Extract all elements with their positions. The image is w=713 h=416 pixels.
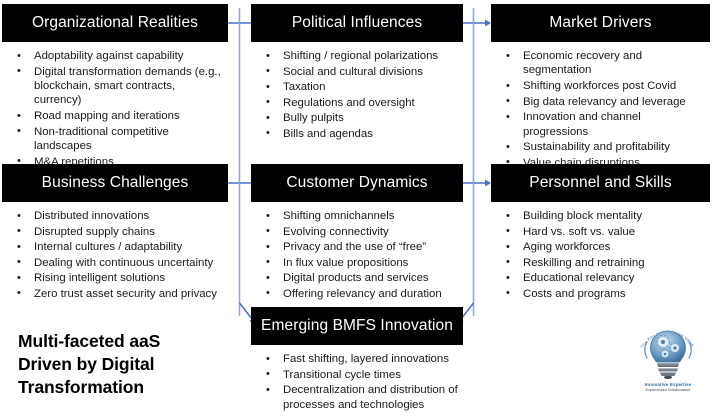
- panel-organizational-realities: Organizational Realities Adoptability ag…: [2, 4, 228, 172]
- list-item: Social and cultural divisions: [261, 65, 459, 79]
- list-item: Shifting omnichannels: [261, 209, 459, 223]
- list-item: In flux value propositions: [261, 256, 459, 270]
- page-title-line-3: Transformation: [18, 376, 233, 399]
- list-item: Transitional cycle times: [261, 368, 459, 382]
- list-item: Shifting / regional polarizations: [261, 49, 459, 63]
- list-item: Regulations and oversight: [261, 96, 459, 110]
- bullet-list-market-drivers: Economic recovery and segmentation Shift…: [501, 49, 706, 170]
- panel-political-influences: Political Influences Shifting / regional…: [251, 4, 463, 145]
- lightbulb-gears-icon: The Key to Unlocking Value: [627, 322, 709, 382]
- list-item: Economic recovery and segmentation: [501, 49, 706, 78]
- panel-header-business-challenges: Business Challenges: [2, 164, 228, 202]
- list-item: Sustainability and profitability: [501, 140, 706, 154]
- list-item: Decentralization and distribution of pro…: [261, 383, 459, 412]
- list-item: Digital transformation demands (e.g., bl…: [12, 65, 224, 108]
- list-item: Zero trust asset security and privacy: [12, 287, 224, 301]
- logo-tagline-primary: Innovative Expertise: [627, 382, 709, 387]
- bullet-list-business-challenges: Distributed innovations Disrupted supply…: [12, 209, 224, 301]
- list-item: Building block mentality: [501, 209, 706, 223]
- bullet-list-political-influences: Shifting / regional polarizations Social…: [261, 49, 459, 141]
- list-item: Privacy and the use of “free”: [261, 240, 459, 254]
- list-item: Innovation and channel progressions: [501, 110, 706, 139]
- panel-header-market-drivers: Market Drivers: [491, 4, 710, 42]
- panel-header-personnel-and-skills: Personnel and Skills: [491, 164, 710, 202]
- list-item: Digital products and services: [261, 271, 459, 285]
- panel-body-emerging-bmfs-innovation: Fast shifting, layered innovations Trans…: [251, 345, 463, 415]
- page-title-line-2: Driven by Digital: [18, 353, 233, 376]
- list-item: Taxation: [261, 80, 459, 94]
- panel-body-political-influences: Shifting / regional polarizations Social…: [251, 42, 463, 145]
- list-item: Shifting workforces post Covid: [501, 79, 706, 93]
- panel-header-organizational-realities: Organizational Realities: [2, 4, 228, 42]
- panel-body-customer-dynamics: Shifting omnichannels Evolving connectiv…: [251, 202, 463, 305]
- list-item: Bully pulpits: [261, 111, 459, 125]
- list-item: Reskilling and retraining: [501, 256, 706, 270]
- list-item: Road mapping and iterations: [12, 109, 224, 123]
- panel-body-organizational-realities: Adoptability against capability Digital …: [2, 42, 228, 172]
- list-item: Aging workforces: [501, 240, 706, 254]
- panel-business-challenges: Business Challenges Distributed innovati…: [2, 164, 228, 305]
- panel-customer-dynamics: Customer Dynamics Shifting omnichannels …: [251, 164, 463, 305]
- bullet-list-emerging-bmfs-innovation: Fast shifting, layered innovations Trans…: [261, 352, 459, 412]
- panel-body-business-challenges: Distributed innovations Disrupted supply…: [2, 202, 228, 305]
- list-item: Hard vs. soft vs. value: [501, 225, 706, 239]
- list-item: Rising intelligent solutions: [12, 271, 224, 285]
- panel-header-political-influences: Political Influences: [251, 4, 463, 42]
- panel-body-market-drivers: Economic recovery and segmentation Shift…: [491, 42, 710, 173]
- bullet-list-organizational-realities: Adoptability against capability Digital …: [12, 49, 224, 169]
- list-item: Non-traditional competitive landscapes: [12, 125, 224, 154]
- list-item: Disrupted supply chains: [12, 225, 224, 239]
- panel-market-drivers: Market Drivers Economic recovery and seg…: [491, 4, 710, 173]
- list-item: Fast shifting, layered innovations: [261, 352, 459, 366]
- list-item: Evolving connectivity: [261, 225, 459, 239]
- panel-personnel-and-skills: Personnel and Skills Building block ment…: [491, 164, 710, 305]
- bullet-list-customer-dynamics: Shifting omnichannels Evolving connectiv…: [261, 209, 459, 301]
- list-item: Distributed innovations: [12, 209, 224, 223]
- panel-header-emerging-bmfs-innovation: Emerging BMFS Innovation: [251, 307, 463, 345]
- list-item: Bills and agendas: [261, 127, 459, 141]
- page-title: Multi-faceted aaS Driven by Digital Tran…: [18, 330, 233, 399]
- list-item: Dealing with continuous uncertainty: [12, 256, 224, 270]
- list-item: Internal cultures / adaptability: [12, 240, 224, 254]
- logo-tagline-secondary: Experienced Collaboration: [627, 388, 709, 392]
- list-item: Big data relevancy and leverage: [501, 95, 706, 109]
- panel-header-customer-dynamics: Customer Dynamics: [251, 164, 463, 202]
- panel-body-personnel-and-skills: Building block mentality Hard vs. soft v…: [491, 202, 710, 305]
- company-logo: The Key to Unlocking Value: [627, 322, 709, 410]
- list-item: Educational relevancy: [501, 271, 706, 285]
- list-item: Offering relevancy and duration: [261, 287, 459, 301]
- list-item: Adoptability against capability: [12, 49, 224, 63]
- list-item: Costs and programs: [501, 287, 706, 301]
- slide-canvas: Organizational Realities Adoptability ag…: [0, 0, 713, 416]
- page-title-line-1: Multi-faceted aaS: [18, 330, 233, 353]
- bullet-list-personnel-and-skills: Building block mentality Hard vs. soft v…: [501, 209, 706, 301]
- panel-emerging-bmfs-innovation: Emerging BMFS Innovation Fast shifting, …: [251, 307, 463, 415]
